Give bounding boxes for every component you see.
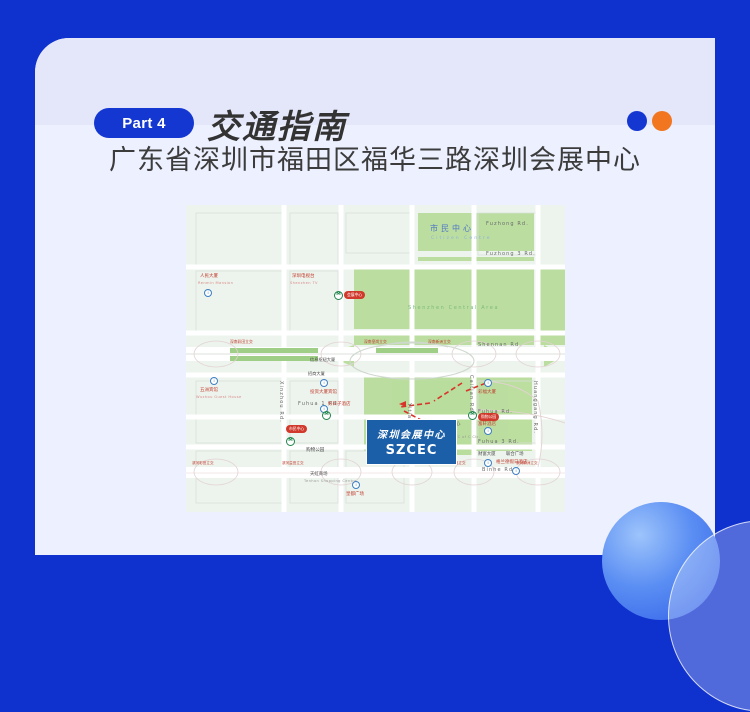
metro-tag-0: 会展中心 bbox=[344, 291, 365, 299]
content-card: Part 4 交通指南 广东省深圳市福田区福华三路深圳会展中心 bbox=[35, 38, 715, 555]
metro-station-icon[interactable]: M bbox=[322, 411, 331, 420]
map-poi-marker[interactable]: i bbox=[352, 481, 360, 489]
map-poi-marker[interactable]: i bbox=[484, 427, 492, 435]
part-badge: Part 4 bbox=[94, 108, 194, 138]
map-poi-marker[interactable]: i bbox=[204, 289, 212, 297]
header-decoration-dots bbox=[627, 111, 672, 131]
dot-blue-icon bbox=[627, 111, 647, 131]
metro-station-icon[interactable]: M bbox=[468, 411, 477, 420]
dot-orange-icon bbox=[652, 111, 672, 131]
venue-map[interactable]: 市民中心 Citizen Centre Shenzhen Central Are… bbox=[186, 205, 565, 512]
metro-tag-1: 购物公园 bbox=[478, 413, 499, 421]
venue-address: 广东省深圳市福田区福华三路深圳会展中心 bbox=[35, 138, 715, 177]
venue-label-en: SZCEC bbox=[386, 443, 438, 458]
venue-label-box: 深圳会展中心 SZCEC bbox=[366, 419, 457, 465]
map-poi-marker[interactable]: i bbox=[484, 459, 492, 467]
map-poi-marker[interactable]: i bbox=[210, 377, 218, 385]
part-badge-label: Part 4 bbox=[122, 115, 166, 132]
map-graphics bbox=[186, 205, 565, 512]
map-poi-marker[interactable]: i bbox=[512, 467, 520, 475]
metro-station-icon[interactable]: M bbox=[286, 437, 295, 446]
venue-label-cn: 深圳会展中心 bbox=[377, 426, 446, 441]
map-poi-marker[interactable]: i bbox=[320, 379, 328, 387]
metro-station-icon[interactable]: M bbox=[334, 291, 343, 300]
map-poi-marker[interactable]: i bbox=[484, 379, 492, 387]
metro-tag-2: 市民中心 bbox=[286, 425, 307, 433]
